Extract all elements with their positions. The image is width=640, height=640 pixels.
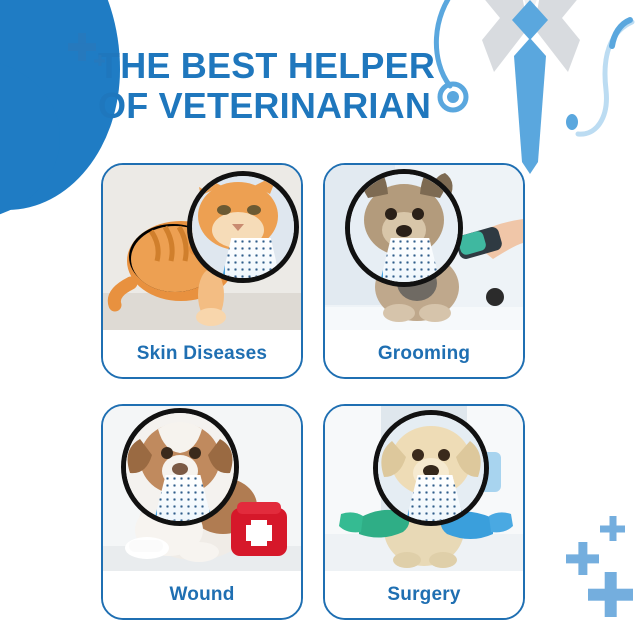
plus-icon-corner-1	[566, 542, 599, 575]
poster-canvas: THE BEST HELPER OF VETERINARIAN	[0, 0, 640, 640]
card-label-grooming: Grooming	[325, 330, 523, 377]
headline-line-1: THE BEST HELPER	[98, 45, 435, 86]
card-label-surgery: Surgery	[325, 571, 523, 618]
card-skin-diseases[interactable]: Skin Diseases	[101, 163, 303, 379]
magnifier-circle	[187, 171, 299, 283]
card-label-wound: Wound	[103, 571, 301, 618]
card-surgery[interactable]: Surgery	[323, 404, 525, 620]
photo-cat-scratching	[103, 165, 301, 334]
plus-icon-corner-3	[588, 572, 633, 617]
photo-dog-first-aid	[103, 406, 301, 575]
plus-icon	[68, 33, 96, 61]
photo-puppy-surgery	[325, 406, 523, 575]
magnifier-circle	[121, 408, 239, 526]
photo-dog-grooming	[325, 165, 523, 334]
page-title: THE BEST HELPER OF VETERINARIAN	[98, 46, 435, 127]
headline-line-2: OF VETERINARIAN	[98, 86, 435, 126]
plus-icon-corner-2	[600, 516, 625, 541]
cone-collar-patch	[222, 238, 280, 278]
magnifier-circle	[345, 169, 463, 287]
card-wound[interactable]: Wound	[101, 404, 303, 620]
card-grooming[interactable]: Grooming	[323, 163, 525, 379]
plus-icon-small	[94, 55, 105, 66]
magnifier-circle	[373, 410, 489, 526]
card-label-skin-diseases: Skin Diseases	[103, 330, 301, 377]
doctor-coat-illustration	[420, 0, 640, 174]
